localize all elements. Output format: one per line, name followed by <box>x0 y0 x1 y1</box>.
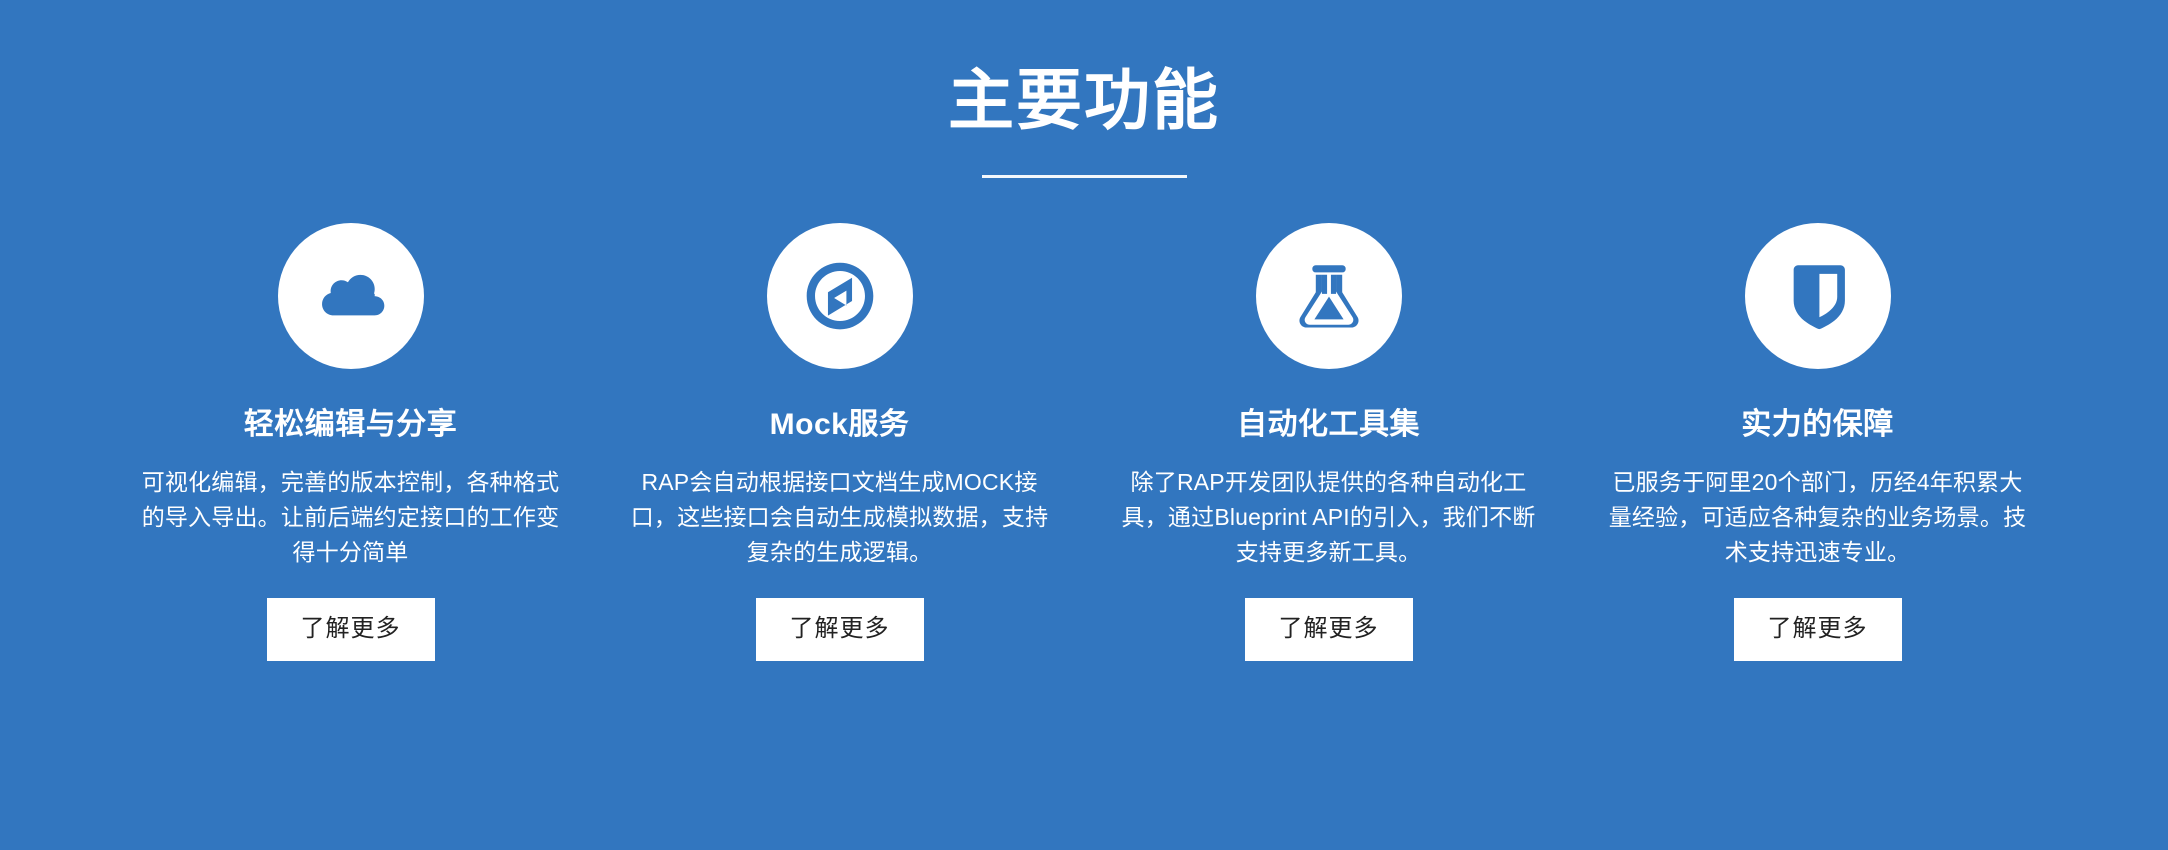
learn-more-button[interactable]: 了解更多 <box>1734 598 1902 661</box>
main-features-section: 主要功能 轻松编辑与分享 可视化编辑，完善的版本控制，各种格式的导入导出。让前后… <box>0 0 2168 850</box>
feature-description: 除了RAP开发团队提供的各种自动化工具，通过Blueprint API的引入，我… <box>1119 465 1539 570</box>
feature-title: Mock服务 <box>770 407 910 443</box>
flask-icon <box>1256 223 1402 369</box>
title-divider <box>982 175 1187 178</box>
feature-card-automation-tools: 自动化工具集 除了RAP开发团队提供的各种自动化工具，通过Blueprint A… <box>1084 223 1573 661</box>
learn-more-button[interactable]: 了解更多 <box>1245 598 1413 661</box>
play-circle-icon <box>767 223 913 369</box>
page-title: 主要功能 <box>0 66 2168 135</box>
section-header: 主要功能 <box>0 0 2168 178</box>
feature-description: 可视化编辑，完善的版本控制，各种格式的导入导出。让前后端约定接口的工作变得十分简… <box>141 465 561 570</box>
feature-card-grid: 轻松编辑与分享 可视化编辑，完善的版本控制，各种格式的导入导出。让前后端约定接口… <box>0 223 2168 661</box>
learn-more-button[interactable]: 了解更多 <box>756 598 924 661</box>
feature-description: 已服务于阿里20个部门，历经4年积累大量经验，可适应各种复杂的业务场景。技术支持… <box>1608 465 2028 570</box>
feature-title: 轻松编辑与分享 <box>244 407 458 443</box>
feature-title: 实力的保障 <box>1741 407 1894 443</box>
learn-more-button[interactable]: 了解更多 <box>267 598 435 661</box>
feature-card-edit-share: 轻松编辑与分享 可视化编辑，完善的版本控制，各种格式的导入导出。让前后端约定接口… <box>106 223 595 661</box>
shield-icon <box>1745 223 1891 369</box>
feature-card-reliability: 实力的保障 已服务于阿里20个部门，历经4年积累大量经验，可适应各种复杂的业务场… <box>1573 223 2062 661</box>
feature-description: RAP会自动根据接口文档生成MOCK接口，这些接口会自动生成模拟数据，支持复杂的… <box>630 465 1050 570</box>
feature-card-mock-service: Mock服务 RAP会自动根据接口文档生成MOCK接口，这些接口会自动生成模拟数… <box>595 223 1084 661</box>
feature-title: 自动化工具集 <box>1237 407 1420 443</box>
cloud-icon <box>278 223 424 369</box>
